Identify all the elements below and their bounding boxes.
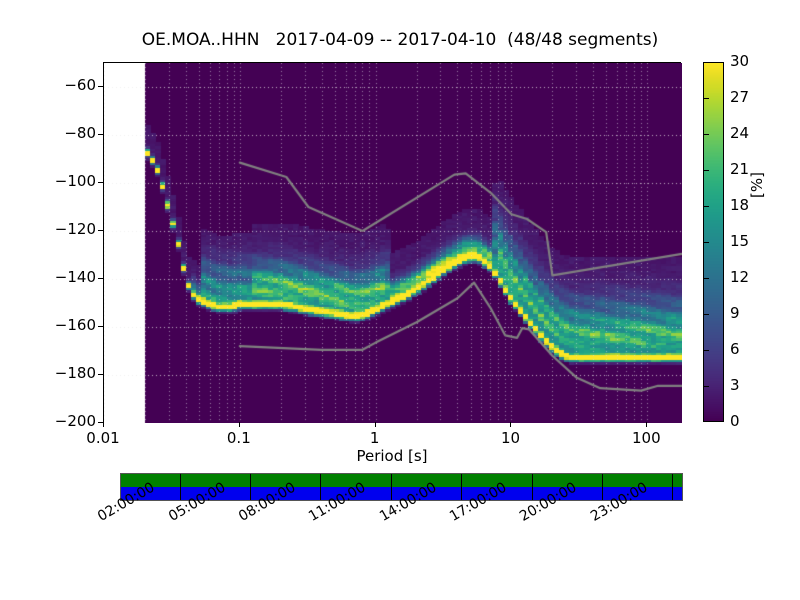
- coverage-segment-separator: [250, 474, 251, 500]
- colorbar-tick-label: 9: [730, 304, 740, 322]
- coverage-band-green: [121, 474, 682, 487]
- y-tick-label: −120: [41, 220, 96, 238]
- colorbar-tick-mark: [704, 134, 709, 135]
- y-tick-label: −200: [41, 412, 96, 430]
- x-tick-label: 0.01: [63, 429, 143, 447]
- colorbar-tick-label: 6: [730, 340, 740, 358]
- colorbar-tick-label: 15: [730, 232, 749, 250]
- x-tick-mark: [239, 422, 240, 427]
- colorbar-tick-mark: [704, 386, 709, 387]
- y-tick-mark: [98, 134, 103, 135]
- colorbar-label: [%]: [748, 145, 766, 225]
- x-tick-mark: [375, 422, 376, 427]
- coverage-segment-separator: [391, 474, 392, 500]
- y-tick-mark: [98, 182, 103, 183]
- colorbar-tick-mark: [704, 350, 709, 351]
- x-tick-mark: [510, 422, 511, 427]
- y-tick-label: −160: [41, 316, 96, 334]
- colorbar-tick-mark: [704, 242, 709, 243]
- y-tick-label: −140: [41, 268, 96, 286]
- x-tick-label: 100: [606, 429, 686, 447]
- y-tick-mark: [98, 86, 103, 87]
- colorbar-tick-mark: [704, 170, 709, 171]
- x-tick-label: 1: [335, 429, 415, 447]
- y-tick-label: −100: [41, 172, 96, 190]
- coverage-segment-separator: [602, 474, 603, 500]
- ppsd-axes: [103, 62, 681, 422]
- y-tick-label: −80: [41, 124, 96, 142]
- colorbar-tick-label: 21: [730, 160, 749, 178]
- x-tick-label: 10: [470, 429, 550, 447]
- ppsd-heatmap: [104, 63, 682, 423]
- colorbar-tick-label: 30: [730, 52, 749, 70]
- colorbar-tick-label: 12: [730, 268, 749, 286]
- colorbar-tick-label: 3: [730, 376, 740, 394]
- coverage-segment-separator: [532, 474, 533, 500]
- y-tick-mark: [98, 230, 103, 231]
- x-tick-mark: [646, 422, 647, 427]
- coverage-segment-separator: [180, 474, 181, 500]
- plot-title: OE.MOA..HHN 2017-04-09 -- 2017-04-10 (48…: [0, 30, 800, 50]
- ppsd-figure: OE.MOA..HHN 2017-04-09 -- 2017-04-10 (48…: [0, 0, 800, 600]
- colorbar-tick-mark: [704, 314, 709, 315]
- colorbar-tick-mark: [704, 206, 709, 207]
- y-tick-label: −60: [41, 76, 96, 94]
- y-tick-label: −180: [41, 364, 96, 382]
- coverage-segment-separator: [461, 474, 462, 500]
- colorbar-tick-label: 27: [730, 88, 749, 106]
- colorbar-tick-label: 18: [730, 196, 749, 214]
- colorbar-tick-label: 0: [730, 412, 740, 430]
- y-tick-mark: [98, 278, 103, 279]
- colorbar-tick-label: 24: [730, 124, 749, 142]
- x-axis-label: Period [s]: [103, 447, 681, 465]
- x-tick-mark: [103, 422, 104, 427]
- coverage-segment-separator: [672, 474, 673, 500]
- y-tick-mark: [98, 374, 103, 375]
- y-tick-mark: [98, 326, 103, 327]
- x-tick-label: 0.1: [199, 429, 279, 447]
- coverage-segment-separator: [320, 474, 321, 500]
- colorbar-tick-mark: [704, 278, 709, 279]
- colorbar-tick-mark: [704, 98, 709, 99]
